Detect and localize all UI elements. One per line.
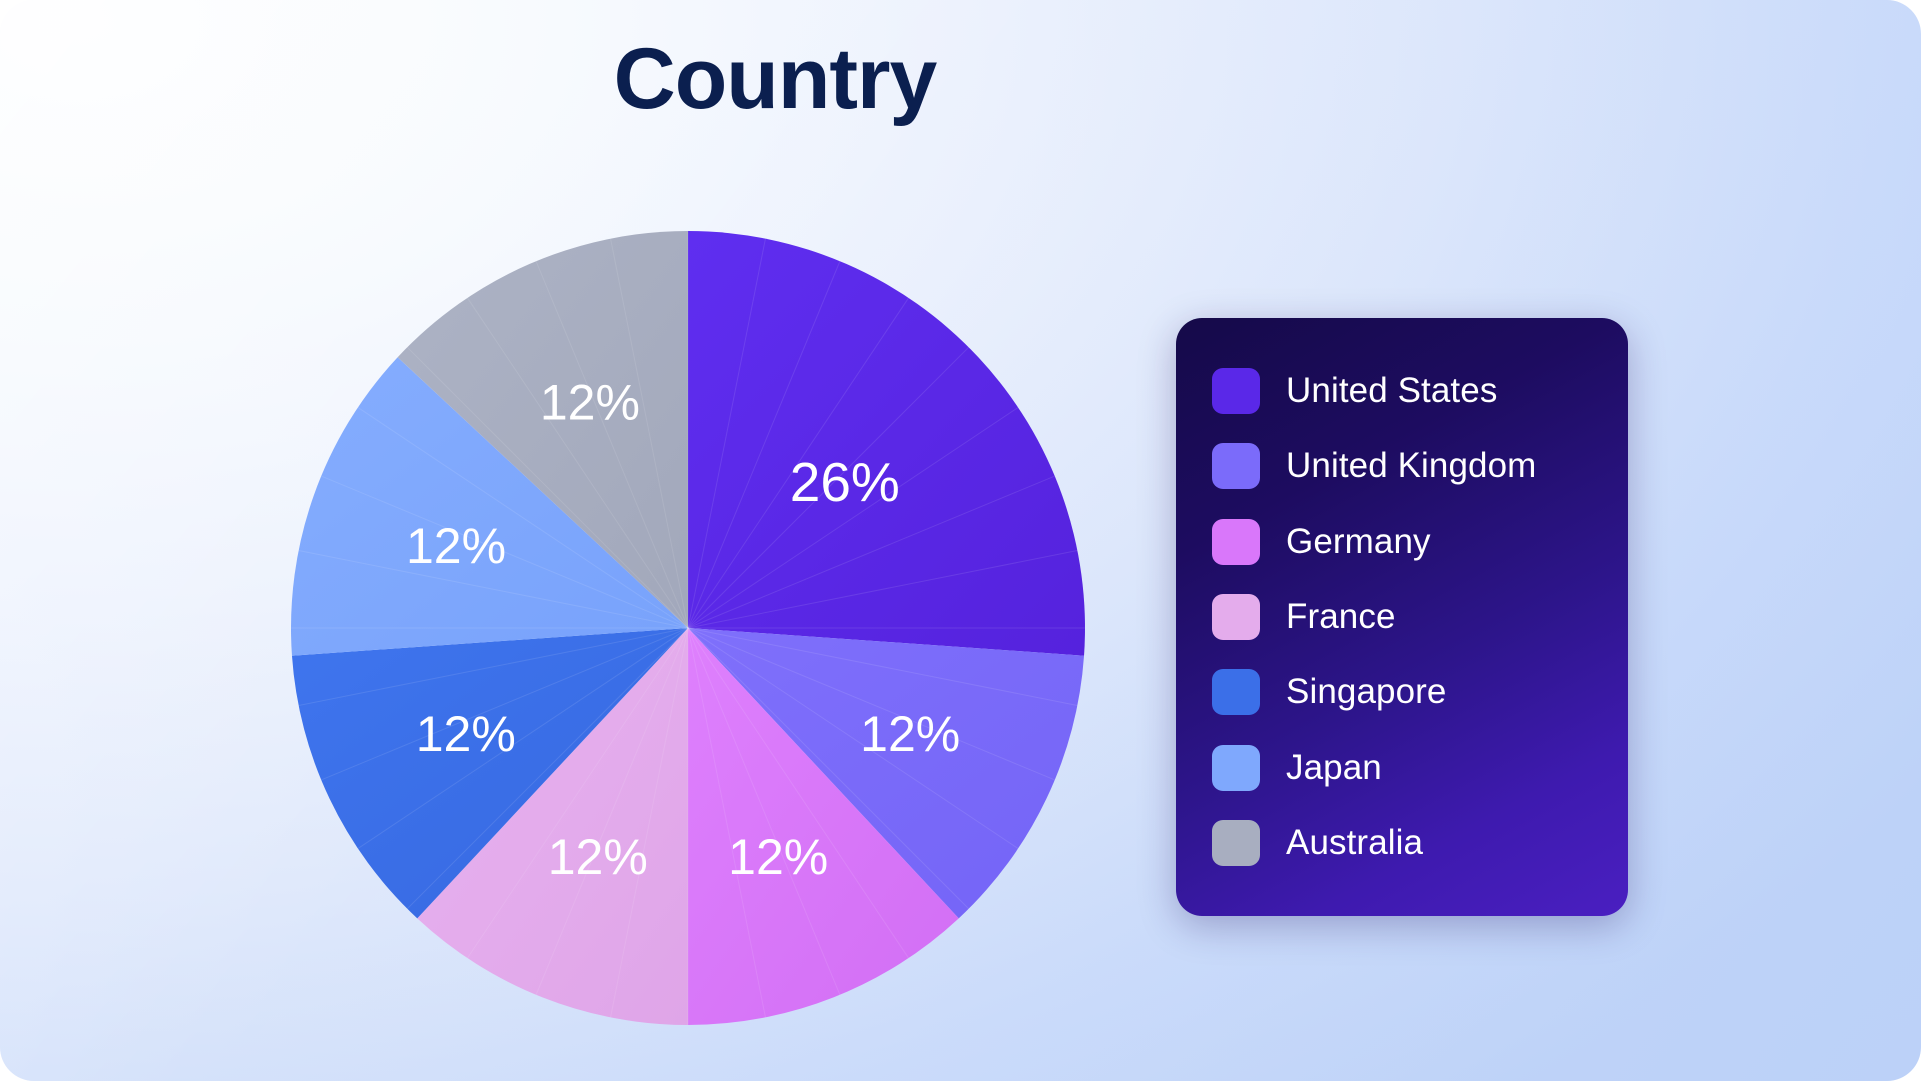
- pie-label-australia: 12%: [540, 374, 640, 430]
- legend-swatch-icon: [1212, 820, 1260, 866]
- legend-item-united-states[interactable]: United States: [1176, 360, 1628, 422]
- pie-chart-svg: 26% 12% 12% 12% 12% 12% 12%: [291, 231, 1085, 1025]
- legend-item-label: Australia: [1286, 823, 1423, 863]
- legend-item-united-kingdom[interactable]: United Kingdom: [1176, 435, 1628, 497]
- pie-label-united-kingdom: 12%: [860, 706, 960, 762]
- pie-label-germany: 12%: [728, 829, 828, 885]
- legend-item-japan[interactable]: Japan: [1176, 737, 1628, 799]
- legend-swatch-icon: [1212, 745, 1260, 791]
- legend-item-label: United Kingdom: [1286, 446, 1536, 486]
- legend-item-label: Singapore: [1286, 672, 1446, 712]
- legend-item-singapore[interactable]: Singapore: [1176, 661, 1628, 723]
- pie-label-singapore: 12%: [416, 706, 516, 762]
- pie-inner-guides: [291, 231, 1085, 1025]
- pie-slice-united-states[interactable]: [688, 231, 1085, 656]
- legend-item-france[interactable]: France: [1176, 586, 1628, 648]
- legend-item-label: United States: [1286, 371, 1497, 411]
- page-title: Country: [0, 36, 1550, 122]
- legend-item-label: Japan: [1286, 748, 1382, 788]
- legend-item-australia[interactable]: Australia: [1176, 812, 1628, 874]
- legend-swatch-icon: [1212, 368, 1260, 414]
- legend-swatch-icon: [1212, 669, 1260, 715]
- screenshot-canvas: Country: [0, 0, 1921, 1081]
- legend-item-germany[interactable]: Germany: [1176, 511, 1628, 573]
- legend-item-label: Germany: [1286, 522, 1431, 562]
- pie-label-united-states: 26%: [790, 451, 900, 513]
- chart-legend: United States United Kingdom Germany Fra…: [1176, 318, 1628, 916]
- legend-swatch-icon: [1212, 443, 1260, 489]
- legend-swatch-icon: [1212, 519, 1260, 565]
- legend-swatch-icon: [1212, 594, 1260, 640]
- pie-chart: 26% 12% 12% 12% 12% 12% 12%: [291, 231, 1085, 1025]
- pie-label-japan: 12%: [406, 518, 506, 574]
- legend-item-label: France: [1286, 597, 1396, 637]
- pie-label-france: 12%: [548, 829, 648, 885]
